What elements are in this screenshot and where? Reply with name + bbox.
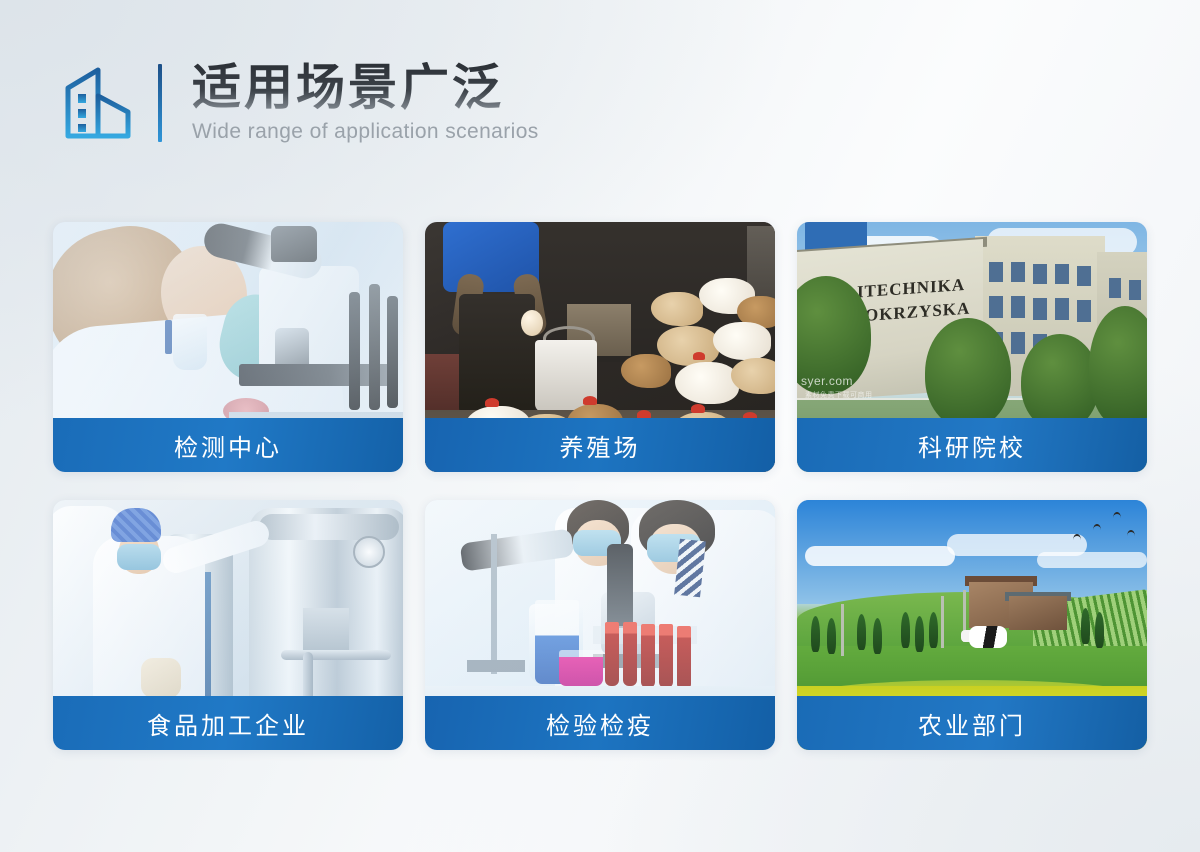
scenario-card-inspection-quarantine[interactable]: 检验检疫 xyxy=(425,500,775,750)
window xyxy=(1077,300,1091,322)
window xyxy=(1077,266,1091,286)
scenario-card-testing-center[interactable]: 检测中心 xyxy=(53,222,403,472)
scenario-card-agriculture-department[interactable]: 农业部门 xyxy=(797,500,1147,750)
window xyxy=(989,296,1003,318)
watermark-text: syer.com xyxy=(801,374,853,388)
hen-comb xyxy=(485,398,499,407)
section-header: 适用场景广泛 Wide range of application scenari… xyxy=(62,62,539,144)
scenario-card-food-processing[interactable]: 食品加工企业 xyxy=(53,500,403,750)
tree xyxy=(1021,334,1099,430)
card-label-research-institute[interactable]: 科研院校 xyxy=(797,418,1147,472)
card-label-food-processing[interactable]: 食品加工企业 xyxy=(53,696,403,750)
bird xyxy=(1113,512,1121,518)
window xyxy=(1011,296,1025,318)
cypress-tree xyxy=(811,616,820,652)
scenario-card-breeding-farm[interactable]: 养殖场 xyxy=(425,222,775,472)
window xyxy=(1055,264,1069,284)
utility-pole xyxy=(941,596,944,648)
cypress-tree xyxy=(929,612,938,648)
cypress-tree xyxy=(827,618,836,654)
hen-comb xyxy=(583,396,597,405)
cypress-tree xyxy=(873,618,882,654)
window xyxy=(1011,332,1025,354)
cloud xyxy=(1037,552,1147,568)
header-divider xyxy=(158,64,162,142)
cypress-tree xyxy=(857,614,866,650)
tree xyxy=(925,318,1011,428)
cypress-tree xyxy=(915,616,924,652)
card-label-inspection-quarantine[interactable]: 检验检疫 xyxy=(425,696,775,750)
page-root: 适用场景广泛 Wide range of application scenari… xyxy=(0,0,1200,852)
page-title: 适用场景广泛 xyxy=(192,62,539,114)
card-label-agriculture-department[interactable]: 农业部门 xyxy=(797,696,1147,750)
window xyxy=(1033,298,1047,320)
window xyxy=(1055,298,1069,320)
cow xyxy=(969,626,1007,648)
bird xyxy=(1073,534,1081,540)
hen xyxy=(713,322,771,360)
hen-comb xyxy=(691,404,705,413)
hen xyxy=(651,292,703,326)
building-icon xyxy=(62,66,134,140)
window xyxy=(1033,264,1047,284)
page-subtitle: Wide range of application scenarios xyxy=(192,120,539,144)
bird xyxy=(1127,530,1135,536)
cypress-tree xyxy=(1081,608,1090,644)
window xyxy=(1109,278,1121,298)
scenario-card-research-institute[interactable]: POLITECHNIKA WIĘTOKRZYSKA syer.com 素材免费下… xyxy=(797,222,1147,472)
window xyxy=(989,262,1003,282)
hen xyxy=(675,362,739,404)
hen-comb xyxy=(693,352,705,360)
cypress-tree xyxy=(1095,612,1104,648)
header-titles: 适用场景广泛 Wide range of application scenari… xyxy=(192,62,539,144)
card-label-testing-center[interactable]: 检测中心 xyxy=(53,418,403,472)
window xyxy=(1129,280,1141,300)
cloud xyxy=(805,546,955,566)
egg xyxy=(521,310,543,336)
worker-trousers xyxy=(459,294,535,414)
cypress-tree xyxy=(901,612,910,648)
card-label-breeding-farm[interactable]: 养殖场 xyxy=(425,418,775,472)
utility-pole xyxy=(841,604,844,656)
watermark-subtext: 素材免费下载可商用 xyxy=(805,390,873,400)
hen xyxy=(621,354,671,388)
scenario-card-grid: 检测中心 xyxy=(53,222,1148,750)
outbuilding xyxy=(1009,596,1067,630)
bird xyxy=(1093,524,1101,530)
window xyxy=(1011,262,1025,282)
